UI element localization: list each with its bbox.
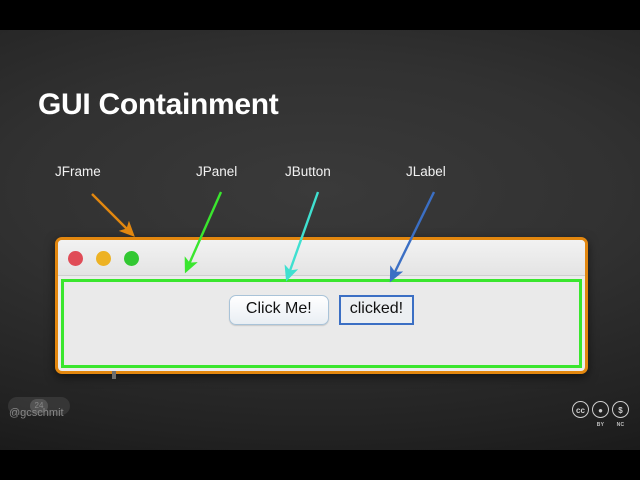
creative-commons-badge: cc ●BY $NC [572,401,629,418]
maximize-icon[interactable] [124,251,139,266]
annotation-label-jframe: JFrame [55,164,101,179]
minimize-icon[interactable] [96,251,111,266]
slide-screenshot: GUI Containment JFrame JPanel JButton JL… [0,0,640,480]
clicked-label: clicked! [339,295,414,325]
click-me-button[interactable]: Click Me! [229,295,329,325]
jpanel-content-pane: Click Me! clicked! [61,279,582,368]
window-title-bar[interactable] [58,240,585,276]
cc-by-label: BY [593,417,608,434]
slide-canvas: GUI Containment JFrame JPanel JButton JL… [0,30,640,450]
annotation-label-jbutton: JButton [285,164,331,179]
watermark-handle: @gcschmit [9,407,64,419]
letterbox-bottom [0,450,640,480]
letterbox-top [0,0,640,30]
close-icon[interactable] [68,251,83,266]
cc-by-icon: ●BY [592,401,609,418]
annotation-label-jpanel: JPanel [196,164,237,179]
panel-controls-row: Click Me! clicked! [64,295,579,325]
annotation-label-jlabel: JLabel [406,164,446,179]
watermark: 24 @gcschmit [8,397,70,415]
cc-nc-icon: $NC [612,401,629,418]
cc-nc-label: NC [613,417,628,434]
page-title: GUI Containment [38,88,279,122]
jframe-window[interactable]: Click Me! clicked! [55,237,588,374]
cc-icon: cc [572,401,589,418]
arrow-jframe [92,194,133,235]
mouse-cursor [112,371,116,379]
